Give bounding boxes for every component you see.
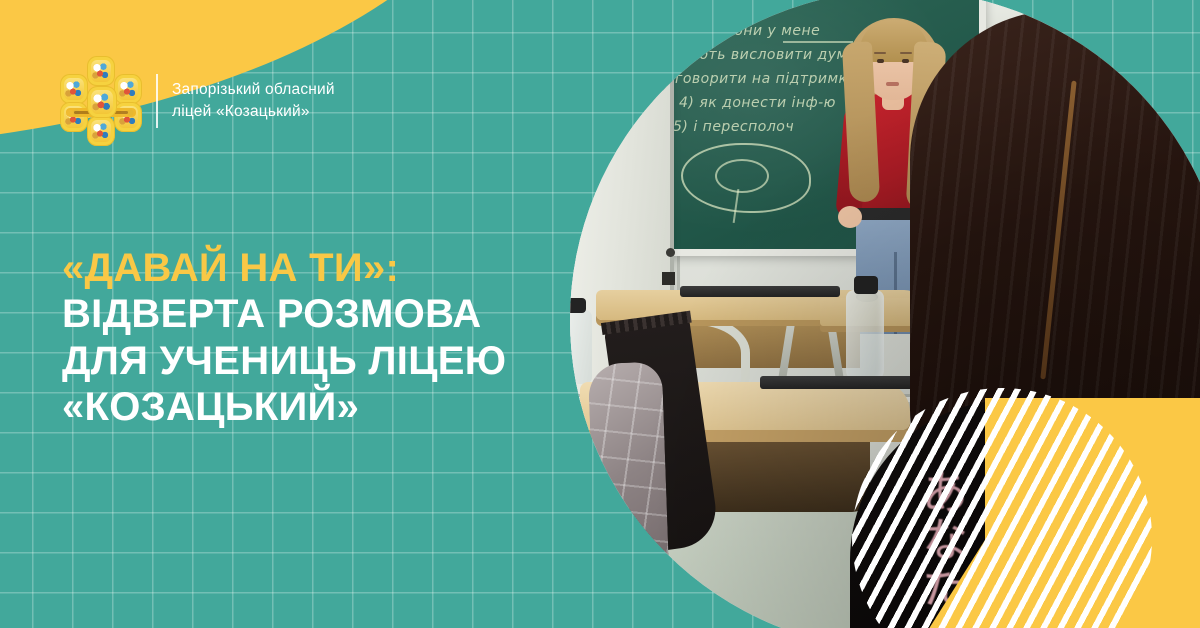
brand-name-line1: Запорізький обласний	[172, 81, 335, 98]
headline-line-2: ВІДВЕРТА РОЗМОВА	[62, 291, 582, 337]
headline-line-3: ДЛЯ УЧЕНИЦЬ ЛІЦЕЮ	[62, 338, 582, 384]
headline-line-4: «КОЗАЦЬКИЙ»	[62, 384, 582, 430]
brand-name-line2: ліцей «Козацький»	[172, 101, 335, 123]
desk-cable-tray	[680, 286, 840, 297]
diagonal-stripes-pattern	[852, 388, 1152, 628]
chalk-line-5: 5) і пересполоч	[673, 119, 794, 135]
brand-lockup[interactable]: Запорізький обласний ліцей «Козацький»	[58, 56, 335, 146]
logo-badge-bottom-right	[114, 102, 142, 132]
logo-badge-bottom	[87, 116, 115, 146]
logo-badge-bottom-left	[60, 102, 88, 132]
teacher-hand-left	[838, 206, 862, 228]
chalk-title: Злочин	[687, 0, 777, 15]
diagonal-stripes-decoration	[852, 388, 1152, 628]
logo-badge-top	[87, 56, 115, 86]
chalk-diagram-inner	[715, 159, 769, 193]
logo-badge-left	[60, 74, 88, 104]
banner-canvas: Злочин що як вони у мене дають висловити…	[0, 0, 1200, 628]
whiteboard-corner-bracket	[662, 272, 675, 285]
chalk-line-1: що як вони у мене	[675, 23, 820, 39]
headline-line-1: «ДАВАЙ НА ТИ»:	[62, 245, 582, 291]
lyceum-hex-logo[interactable]	[58, 56, 144, 146]
logo-badge-center	[87, 86, 117, 118]
logo-badge-right	[114, 74, 142, 104]
brand-name: Запорізький обласний ліцей «Козацький»	[172, 79, 335, 124]
headline: «ДАВАЙ НА ТИ»: ВІДВЕРТА РОЗМОВА ДЛЯ УЧЕН…	[62, 245, 582, 431]
whiteboard-knob	[666, 248, 675, 257]
student-plaid-arm	[588, 362, 671, 614]
brand-divider	[156, 74, 158, 128]
chalk-line-4: 4) як донести інф-ю	[679, 95, 836, 111]
